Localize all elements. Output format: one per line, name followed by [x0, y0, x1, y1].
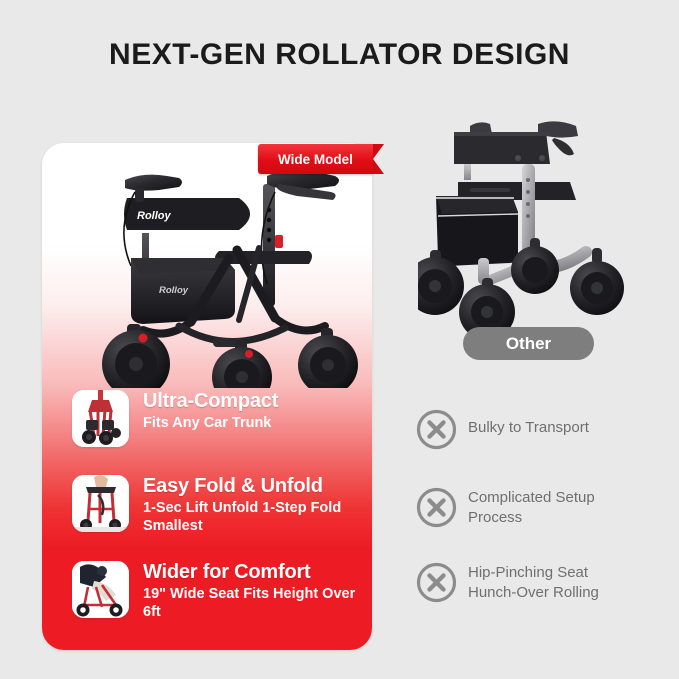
feature-text: Ultra-Compact Fits Any Car Trunk [143, 390, 278, 433]
con-text: Bulky to Transport [468, 409, 589, 438]
feature-row: Wider for Comfort 19" Wide Seat Fits Hei… [72, 561, 362, 622]
con-text: Hip-Pinching Seat Hunch-Over Rolling [468, 562, 599, 603]
feature-text: Easy Fold & Unfold 1-Sec Lift Unfold 1-S… [143, 475, 362, 536]
con-line: Complicated Setup [468, 488, 595, 508]
con-line: Process [468, 508, 595, 528]
feature-sublines: 1-Sec Lift Unfold 1-Step Fold Smallest [143, 500, 362, 535]
con-row: Complicated Setup Process [416, 487, 595, 528]
other-product-image [418, 120, 658, 345]
con-line: Bulky to Transport [468, 418, 589, 438]
svg-text:Rolloy: Rolloy [137, 210, 171, 222]
circle-x-icon [416, 409, 457, 450]
feature-thumbnail [72, 561, 129, 618]
circle-x-icon [416, 562, 457, 603]
con-line: Hip-Pinching Seat [468, 563, 599, 583]
other-badge: Other [463, 327, 594, 360]
feature-sublines: 19" Wide Seat Fits Height Over 6ft [143, 586, 362, 621]
feature-subline: 19" Wide Seat [143, 586, 239, 602]
feature-heading: Wider for Comfort [143, 562, 362, 583]
feature-thumbnail [72, 390, 129, 447]
wide-model-badge: Wide Model [258, 144, 373, 174]
circle-x-icon [416, 487, 457, 528]
svg-text:Rolloy: Rolloy [159, 285, 189, 296]
con-row: Hip-Pinching Seat Hunch-Over Rolling [416, 562, 599, 603]
wide-model-card: Rolloy Roll [42, 143, 372, 650]
con-text: Complicated Setup Process [468, 487, 595, 528]
feature-row: Easy Fold & Unfold 1-Sec Lift Unfold 1-S… [72, 475, 362, 536]
feature-subline: 1-Sec Lift Unfold [143, 500, 258, 516]
con-line: Hunch-Over Rolling [468, 583, 599, 603]
page-title: NEXT-GEN ROLLATOR DESIGN [0, 38, 679, 72]
feature-subline: Fits Any Car Trunk [143, 415, 278, 433]
left-product-image: Rolloy Roll [42, 143, 372, 388]
feature-text: Wider for Comfort 19" Wide Seat Fits Hei… [143, 561, 362, 622]
con-row: Bulky to Transport [416, 409, 589, 450]
feature-row: Ultra-Compact Fits Any Car Trunk [72, 390, 362, 447]
feature-heading: Ultra-Compact [143, 391, 278, 412]
infographic-page: NEXT-GEN ROLLATOR DESIGN [0, 0, 679, 679]
feature-heading: Easy Fold & Unfold [143, 476, 362, 497]
feature-thumbnail [72, 475, 129, 532]
